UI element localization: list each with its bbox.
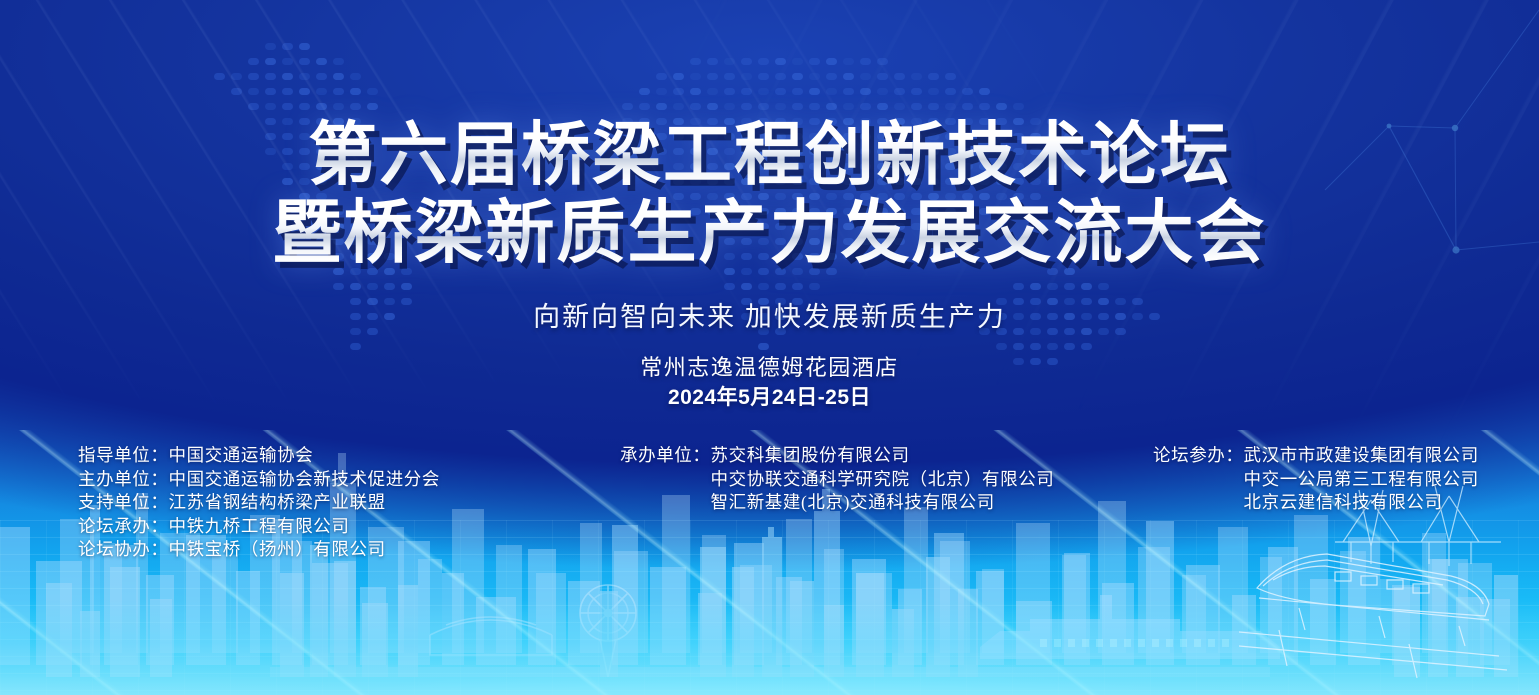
organization-row: 主办单位：中国交通运输协会新技术促进分会 [78,468,440,492]
organization-name: 苏交科集团股份有限公司 [711,444,910,468]
organization-row: 指导单位：中国交通运输协会 [78,444,440,468]
organization-name: 北京云建信科技有限公司 [1244,491,1443,515]
organization-row: 支持单位：江苏省钢结构桥梁产业联盟 [78,491,440,515]
organization-name: 中交协联交通科学研究院（北京）有限公司 [711,468,1055,492]
organization-name: 中国交通运输协会新技术促进分会 [169,468,441,492]
organization-row: 论坛协办：中铁宝桥（扬州）有限公司 [78,538,440,562]
organizations-column-left: 指导单位：中国交通运输协会主办单位：中国交通运输协会新技术促进分会支持单位：江苏… [78,444,440,562]
organization-row: 论坛参办：中交一公局第三工程有限公司 [1153,468,1479,492]
organization-row: 承办单位：中交协联交通科学研究院（北京）有限公司 [620,468,1054,492]
conference-banner: 第六届桥梁工程创新技术论坛 暨桥梁新质生产力发展交流大会 向新向智向未来 加快发… [0,0,1539,695]
organization-name: 中铁宝桥（扬州）有限公司 [169,538,386,562]
organization-row: 论坛参办：北京云建信科技有限公司 [1153,491,1479,515]
organization-label: 主办单位： [78,468,169,492]
organization-row: 承办单位：智汇新基建(北京)交通科技有限公司 [620,491,1054,515]
title-block: 第六届桥梁工程创新技术论坛 暨桥梁新质生产力发展交流大会 [0,116,1539,272]
venue-place: 常州志逸温德姆花园酒店 [0,353,1539,383]
organization-label: 论坛承办： [78,515,169,539]
organizations-column-right: 论坛参办：武汉市市政建设集团有限公司论坛参办：中交一公局第三工程有限公司论坛参办… [1153,444,1479,515]
organization-name: 中国交通运输协会 [169,444,314,468]
organization-row: 论坛承办：中铁九桥工程有限公司 [78,515,440,539]
organization-name: 智汇新基建(北京)交通科技有限公司 [711,491,995,515]
organizations-column-middle: 承办单位：苏交科集团股份有限公司承办单位：中交协联交通科学研究院（北京）有限公司… [620,444,1054,515]
title-line-2: 暨桥梁新质生产力发展交流大会 [0,194,1539,272]
organization-label: 承办单位： [620,444,711,468]
organization-label: 论坛协办： [78,538,169,562]
venue-date: 2024年5月24日-25日 [0,383,1539,413]
venue-block: 常州志逸温德姆花园酒店 2024年5月24日-25日 [0,353,1539,413]
organization-name: 中交一公局第三工程有限公司 [1244,468,1479,492]
organization-name: 武汉市市政建设集团有限公司 [1244,444,1479,468]
title-line-1: 第六届桥梁工程创新技术论坛 [0,116,1539,194]
organization-label: 论坛参办： [1153,444,1244,468]
organization-row: 承办单位：苏交科集团股份有限公司 [620,444,1054,468]
organization-name: 江苏省钢结构桥梁产业联盟 [169,491,386,515]
organization-name: 中铁九桥工程有限公司 [169,515,350,539]
organization-label: 支持单位： [78,491,169,515]
organization-label: 指导单位： [78,444,169,468]
subtitle: 向新向智向未来 加快发展新质生产力 [0,295,1539,334]
organization-row: 论坛参办：武汉市市政建设集团有限公司 [1153,444,1479,468]
organizations-columns: 指导单位：中国交通运输协会主办单位：中国交通运输协会新技术促进分会支持单位：江苏… [0,444,1539,574]
